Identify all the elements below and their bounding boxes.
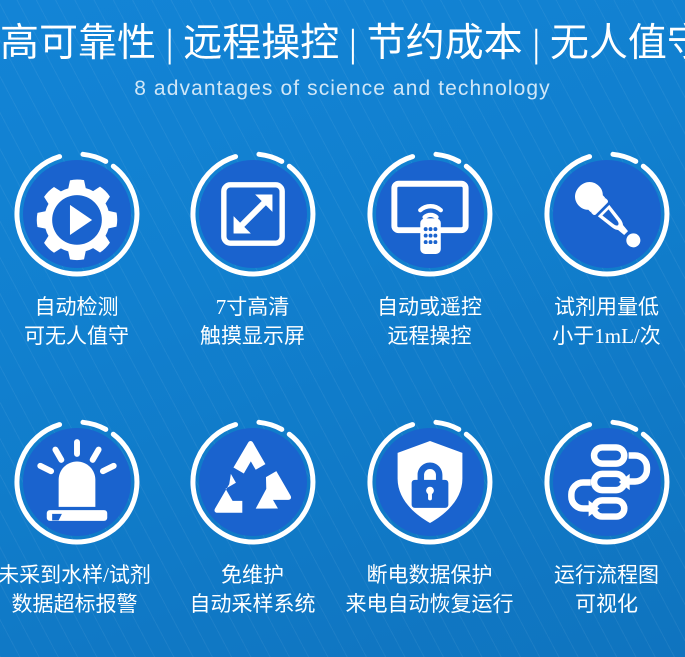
features-row-2: 未采到水样/试剂 数据超标报警 xyxy=(0,418,685,657)
feature-card[interactable]: 运行流程图 可视化 xyxy=(521,418,685,657)
alarm-siren-icon xyxy=(23,428,131,536)
dropper-pipette-icon xyxy=(553,160,661,268)
feature-icon-badge xyxy=(366,150,494,278)
feature-caption-line1: 断电数据保护 xyxy=(344,561,515,590)
feature-caption: 试剂用量低 小于1mL/次 xyxy=(521,293,685,351)
feature-caption: 运行流程图 可视化 xyxy=(521,561,685,619)
feature-caption: 7寸高清 触摸显示屏 xyxy=(167,293,338,351)
expand-arrows-screen-icon xyxy=(199,160,307,268)
feature-caption-line1: 未采到水样/试剂 xyxy=(0,561,162,590)
feature-caption-line2: 小于1mL/次 xyxy=(521,322,685,351)
poster-root: 高可靠性 | 远程操控 | 节约成本 | 无人值守 8 advantages o… xyxy=(0,0,685,657)
shield-lock-icon xyxy=(376,428,484,536)
feature-caption-line1: 自动检测 xyxy=(0,293,162,322)
feature-icon-badge xyxy=(13,150,141,278)
feature-caption-line2: 远程操控 xyxy=(344,322,515,351)
header: 高可靠性 | 远程操控 | 节约成本 | 无人值守 8 advantages o… xyxy=(0,0,685,118)
feature-caption: 自动或遥控 远程操控 xyxy=(344,293,515,351)
feature-icon-badge xyxy=(366,418,494,546)
feature-caption-line2: 自动采样系统 xyxy=(167,590,338,619)
feature-caption-line1: 试剂用量低 xyxy=(521,293,685,322)
page-title: 高可靠性 | 远程操控 | 节约成本 | 无人值守 xyxy=(0,21,685,67)
feature-card[interactable]: 试剂用量低 小于1mL/次 xyxy=(521,150,685,400)
feature-caption-line1: 免维护 xyxy=(167,561,338,590)
feature-caption: 断电数据保护 来电自动恢复运行 xyxy=(344,561,515,619)
features-row-1: 自动检测 可无人值守 xyxy=(0,150,685,400)
feature-caption: 自动检测 可无人值守 xyxy=(0,293,162,351)
feature-caption: 免维护 自动采样系统 xyxy=(167,561,338,619)
feature-icon-badge xyxy=(13,418,141,546)
feature-caption-line1: 7寸高清 xyxy=(167,293,338,322)
feature-caption-line2: 来电自动恢复运行 xyxy=(344,590,515,619)
feature-caption: 未采到水样/试剂 数据超标报警 xyxy=(0,561,162,619)
feature-icon-badge xyxy=(189,418,317,546)
feature-caption-line2: 可无人值守 xyxy=(0,322,162,351)
gear-play-icon xyxy=(23,160,131,268)
feature-card[interactable]: 自动或遥控 远程操控 xyxy=(344,150,515,400)
feature-icon-badge xyxy=(189,150,317,278)
feature-card[interactable]: 免维护 自动采样系统 xyxy=(167,418,338,657)
feature-card[interactable]: 断电数据保护 来电自动恢复运行 xyxy=(344,418,515,657)
feature-card[interactable]: 自动检测 可无人值守 xyxy=(0,150,162,400)
features-grid: 自动检测 可无人值守 xyxy=(0,140,685,657)
feature-card[interactable]: 7寸高清 触摸显示屏 xyxy=(167,150,338,400)
page-subtitle: 8 advantages of science and technology xyxy=(0,76,685,102)
feature-caption-line2: 数据超标报警 xyxy=(0,590,162,619)
feature-caption-line1: 自动或遥控 xyxy=(344,293,515,322)
feature-card[interactable]: 未采到水样/试剂 数据超标报警 xyxy=(0,418,162,657)
feature-caption-line2: 触摸显示屏 xyxy=(167,322,338,351)
feature-caption-line1: 运行流程图 xyxy=(521,561,685,590)
screen-wifi-remote-icon xyxy=(376,160,484,268)
feature-icon-badge xyxy=(543,418,671,546)
feature-caption-line2: 可视化 xyxy=(521,590,685,619)
recycle-icon xyxy=(199,428,307,536)
feature-icon-badge xyxy=(543,150,671,278)
flowchart-loop-icon xyxy=(553,428,661,536)
